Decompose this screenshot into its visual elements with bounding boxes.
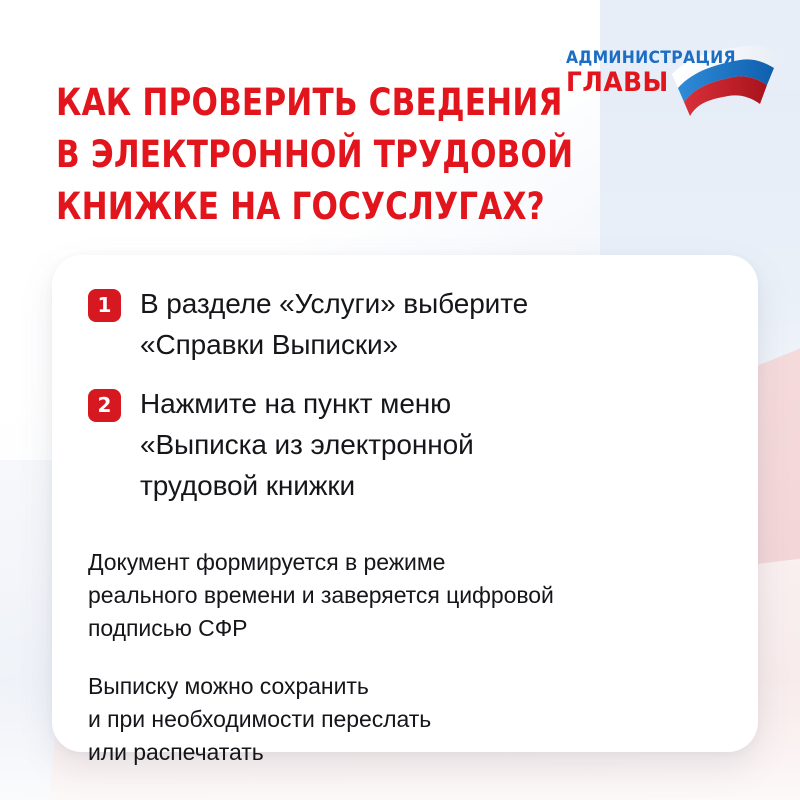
step-text: В разделе «Услуги» выберите «Справки Вып… <box>140 283 528 365</box>
content-card: 1 В разделе «Услуги» выберите «Справки В… <box>52 255 758 752</box>
note-line: подписью СФР <box>88 612 732 645</box>
page-title-line-1: Как проверить сведения <box>56 77 493 129</box>
note-paragraph: Выписку можно сохранить и при необходимо… <box>88 670 732 769</box>
note-line: или распечатать <box>88 736 732 769</box>
note-line: и при необходимости переслать <box>88 703 732 736</box>
note-paragraphs: Документ формируется в режиме реального … <box>88 523 732 769</box>
note-line: Выписку можно сохранить <box>88 670 732 703</box>
step-item: 1 В разделе «Услуги» выберите «Справки В… <box>88 283 732 365</box>
page-title: Как проверить сведения в электронной тру… <box>56 77 493 233</box>
logo: Администрация Главы <box>566 46 778 122</box>
step-text-line: В разделе «Услуги» выберите <box>140 283 528 324</box>
note-line: Документ формируется в режиме <box>88 546 732 579</box>
note-line: реального времени и заверяется цифровой <box>88 579 732 612</box>
page-title-line-3: книжке на Госуслугах? <box>56 181 493 233</box>
step-item: 2 Нажмите на пункт меню «Выписка из элек… <box>88 383 732 506</box>
infographic-poster: Как проверить сведения в электронной тру… <box>0 0 800 800</box>
logo-text: Администрация Главы <box>566 48 712 97</box>
step-number-badge: 2 <box>88 389 121 422</box>
note-paragraph: Документ формируется в режиме реального … <box>88 546 732 645</box>
step-text: Нажмите на пункт меню «Выписка из электр… <box>140 383 474 506</box>
step-text-line: Нажмите на пункт меню <box>140 383 474 424</box>
logo-line-administration: Администрация <box>566 48 700 68</box>
logo-line-glavy: Главы <box>566 68 700 97</box>
step-text-line: «Справки Выписки» <box>140 324 528 365</box>
step-text-line: трудовой книжки <box>140 465 474 506</box>
step-text-line: «Выписка из электронной <box>140 424 474 465</box>
page-title-line-2: в электронной трудовой <box>56 129 493 181</box>
step-number-badge: 1 <box>88 289 121 322</box>
steps-list: 1 В разделе «Услуги» выберите «Справки В… <box>88 283 732 506</box>
